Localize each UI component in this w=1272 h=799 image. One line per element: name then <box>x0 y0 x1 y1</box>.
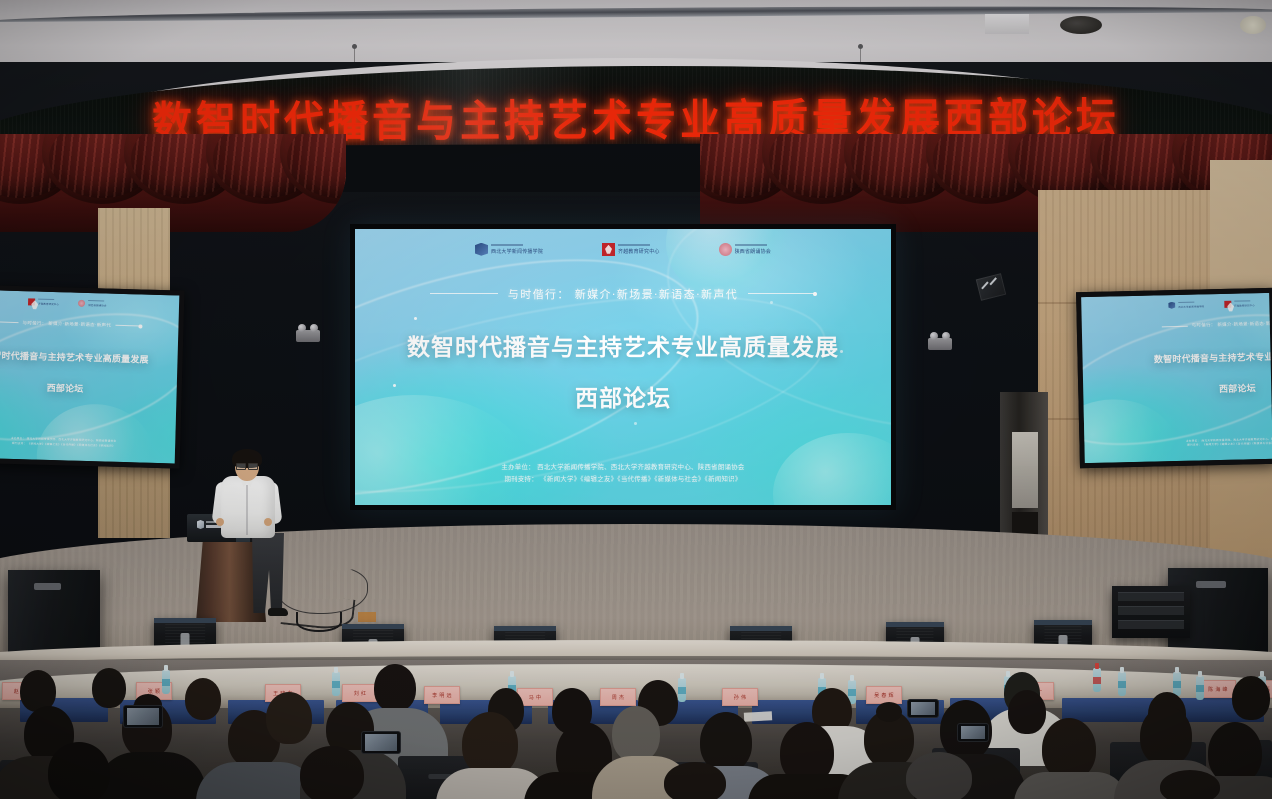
audience-head-foreground <box>664 762 726 799</box>
audience-head <box>462 712 518 776</box>
conference-hall-photo: 数智时代播音与主持艺术专业高质量发展西部论坛 <box>0 0 1272 799</box>
water-bottle <box>678 678 686 702</box>
audience-torso <box>1014 772 1128 799</box>
water-bottle <box>1173 672 1181 696</box>
slide-subtitle-row: 与时偕行： 新媒介·新场景·新语态·新声代 <box>355 286 891 302</box>
water-bottle <box>1118 672 1126 696</box>
ceiling-vent <box>985 14 1029 34</box>
slide-organizers: 主办单位： 西北大学新闻传播学院、西北大学齐越教育研究中心、陕西省朗诵协会 <box>355 462 891 474</box>
slide-logo-1: 西北大学新闻传播学院 <box>475 243 543 256</box>
ceiling-downlight-icon <box>1240 16 1266 34</box>
audience-head-foreground <box>48 742 110 799</box>
name-placard: 刘 红 <box>342 684 378 702</box>
audience-head-foreground <box>1160 770 1220 799</box>
speaker-hand-right <box>264 518 272 526</box>
audience-head <box>1008 690 1046 734</box>
audience-head <box>185 678 221 720</box>
floor-tape-marker <box>358 612 376 622</box>
water-bottle <box>162 670 170 694</box>
side-display-right: 西北大学新闻传播学院 齐越教育研究中心 陕西省朗诵协会 与时偕行： 新媒介·新场… <box>1076 288 1272 468</box>
audience-head <box>1208 722 1262 784</box>
university-logo-icon <box>475 243 488 256</box>
speaker-glasses-icon <box>236 463 258 468</box>
audience-phone-screen <box>362 732 400 753</box>
led-banner-glare <box>360 66 590 145</box>
side-display-left-surface: 齐越教育研究中心 陕西省朗诵协会 与时偕行： 新媒介·新场景·新语态·新声代 数… <box>0 291 179 464</box>
audience-phone-screen <box>958 724 988 741</box>
name-placard: 周 杰 <box>600 688 636 706</box>
speaker-shirt <box>221 476 275 538</box>
audience-head-foreground <box>906 752 972 799</box>
emergency-light-icon <box>296 330 320 342</box>
slide-title-line1: 数智时代播音与主持艺术专业高质量发展 <box>355 328 891 368</box>
audience-phone-screen <box>908 700 938 717</box>
slide-footer: 主办单位： 西北大学新闻传播学院、西北大学齐越教育研究中心、陕西省朗诵协会 期刊… <box>355 462 891 486</box>
audience-head <box>1140 706 1192 766</box>
slide-logo-row: 西北大学新闻传播学院 齐越教育研究中心 陕西省朗诵协会 <box>355 243 891 256</box>
side-display-left: 齐越教育研究中心 陕西省朗诵协会 与时偕行： 新媒介·新场景·新语态·新声代 数… <box>0 285 184 468</box>
slide-logo-2-label: 齐越教育研究中心 <box>618 248 660 255</box>
slide-subtitle: 与时偕行： 新媒介·新场景·新语态·新声代 <box>508 286 738 302</box>
speaker-hand-left <box>216 518 224 526</box>
side-display-right-surface: 西北大学新闻传播学院 齐越教育研究中心 陕西省朗诵协会 与时偕行： 新媒介·新场… <box>1081 293 1272 463</box>
audience-head <box>1042 718 1096 780</box>
audience-head <box>266 692 312 744</box>
main-screen-surface: 西北大学新闻传播学院 齐越教育研究中心 陕西省朗诵协会 与时偕行： 新媒介·新场… <box>355 229 891 505</box>
desk-paper <box>744 711 772 721</box>
slide-logo-2: 齐越教育研究中心 <box>602 243 660 256</box>
slide-journals: 期刊支持： 《新闻大学》《编辑之友》《当代传播》《新媒体与社会》《新闻知识》 <box>355 474 891 486</box>
audience-head-grey <box>612 706 660 762</box>
name-placard: 吴 春 辉 <box>866 686 902 704</box>
audience-hair-bun <box>876 702 902 722</box>
decorative-rule-left <box>430 293 498 294</box>
audience-head <box>1232 676 1270 720</box>
speaker-shirt-placket <box>246 485 248 535</box>
name-placard: 陈 海 峰 <box>1200 680 1236 698</box>
ceiling-speaker-icon <box>1060 16 1102 34</box>
slide-logo-3: 陕西省朗诵协会 <box>719 243 771 256</box>
audience-phone-screen <box>124 706 162 727</box>
water-bottle <box>1196 676 1204 700</box>
water-bottle <box>332 672 340 696</box>
speaker-mic-cable-loop <box>296 612 342 632</box>
slide-title-line2: 西部论坛 <box>355 379 891 413</box>
audience-head <box>92 668 126 708</box>
emergency-light-icon <box>928 338 952 350</box>
decorative-rule-right <box>748 293 816 294</box>
name-placard: 孙 伟 <box>722 688 758 706</box>
audience-head-foreground <box>300 746 364 799</box>
audience-torso <box>96 752 206 799</box>
water-bottle-red <box>1093 668 1101 692</box>
center-logo-icon <box>602 243 615 256</box>
audience-head <box>374 664 416 712</box>
side-door-window <box>1012 432 1038 508</box>
name-placard: 李 明 远 <box>424 686 460 704</box>
association-logo-icon <box>719 243 732 256</box>
slide-logo-3-label: 陕西省朗诵协会 <box>735 248 771 255</box>
podium-logo-icon <box>197 520 204 529</box>
slide-artwork: 西北大学新闻传播学院 齐越教育研究中心 陕西省朗诵协会 与时偕行： 新媒介·新场… <box>355 229 891 505</box>
equipment-rack <box>1112 586 1190 638</box>
main-presentation-screen: 西北大学新闻传播学院 齐越教育研究中心 陕西省朗诵协会 与时偕行： 新媒介·新场… <box>350 224 896 510</box>
slide-logo-1-label: 西北大学新闻传播学院 <box>491 248 543 255</box>
stage-curtain-valance-left <box>0 134 346 232</box>
